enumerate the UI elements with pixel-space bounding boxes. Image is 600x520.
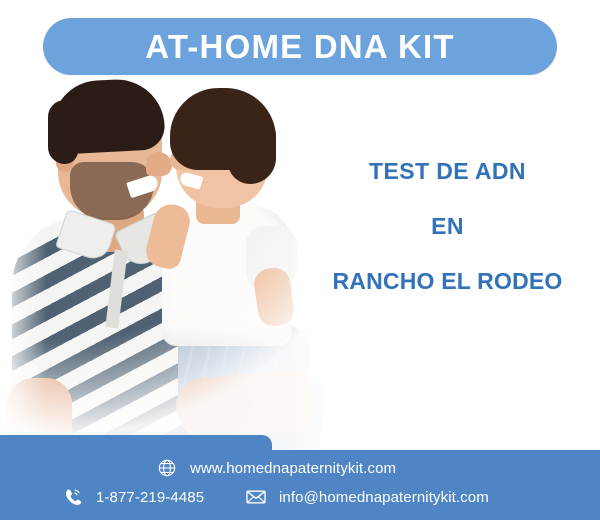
poster-root: AT-HOME DNA KIT — [0, 0, 600, 520]
headline-block: TEST DE ADN EN RANCHO EL RODEO — [310, 160, 585, 293]
man-nose — [146, 152, 172, 176]
headline-line-2: EN — [310, 215, 585, 238]
man-hand — [176, 378, 252, 434]
family-photo — [0, 78, 330, 458]
footer-email-row[interactable]: info@homednapaternitykit.com — [245, 486, 489, 508]
footer-phone-row[interactable]: 1-877-219-4485 — [62, 486, 204, 508]
photo-canvas — [0, 78, 330, 458]
footer-phone-text: 1-877-219-4485 — [96, 490, 204, 505]
footer-website-row[interactable]: www.homednapaternitykit.com — [156, 457, 396, 479]
headline-line-1: TEST DE ADN — [310, 160, 585, 183]
phone-icon — [62, 486, 84, 508]
envelope-icon — [245, 486, 267, 508]
page-title: AT-HOME DNA KIT — [145, 30, 454, 63]
footer-email-text: info@homednapaternitykit.com — [279, 490, 489, 505]
man-hair-side — [48, 100, 78, 164]
contact-footer: www.homednapaternitykit.com 1-877-219-44… — [0, 435, 600, 520]
globe-icon — [156, 457, 178, 479]
title-pill: AT-HOME DNA KIT — [43, 18, 557, 75]
headline-line-3: RANCHO EL RODEO — [310, 270, 585, 293]
footer-website-text: www.homednapaternitykit.com — [190, 461, 396, 476]
child-hair-side — [228, 112, 276, 184]
